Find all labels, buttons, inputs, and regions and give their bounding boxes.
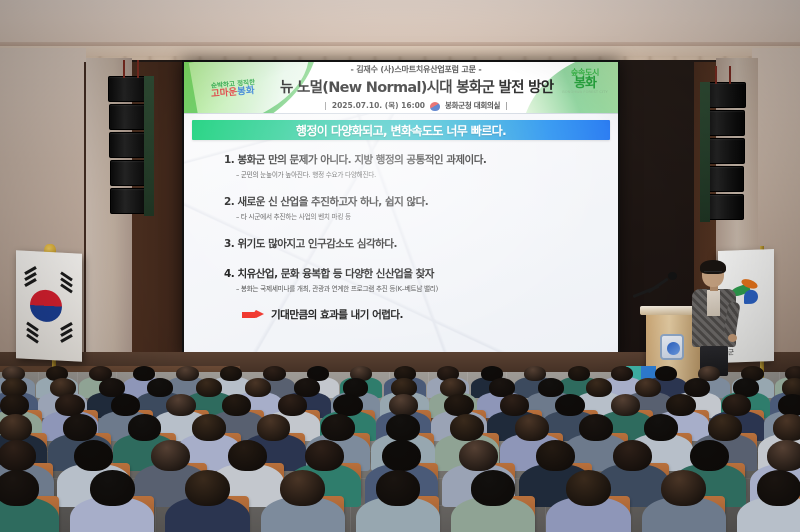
audience-member-head <box>450 414 484 441</box>
slide-title-block: - 김재수 (사)스마트치유산업포럼 고문 - 뉴 노멀(New Normal)… <box>280 62 552 114</box>
presenter-shirt <box>707 290 720 316</box>
audience-member-head <box>278 394 308 416</box>
bonghwa-county-emblem-icon <box>430 102 440 111</box>
slide-item-sub: – 군민의 눈높이가 높아진다. 행정 수요가 다양해진다. <box>236 169 600 179</box>
slide-item-main: 4. 치유산업, 문화 융복합 등 다양한 신산업을 찾자 <box>224 266 600 281</box>
presenter-glasses-icon <box>704 271 722 275</box>
audience-member-head <box>635 378 661 397</box>
speaker-hang-wire <box>715 66 717 84</box>
audience-member-head <box>586 378 612 397</box>
speaker-side-panel <box>700 82 710 222</box>
audience-member-head <box>778 394 800 416</box>
slide-conclusion-text: 기대만큼의 효과를 내기 어렵다. <box>271 307 403 322</box>
slide-item: 2. 새로운 신 산업을 추진하고자 하나, 쉽지 않다. – 타 시군에서 추… <box>224 194 600 221</box>
audience-member-head <box>611 394 641 416</box>
meta-venue: 봉화군청 대회의실 <box>445 100 500 111</box>
audience-member-head <box>245 378 271 397</box>
slide-headline-bar: 행정이 다양화되고, 변화속도도 너무 빠르다. <box>192 120 610 140</box>
audience-member-head <box>644 414 678 441</box>
slide-item-main: 1. 봉화군 만의 문제가 아니다. 지방 행정의 공통적인 과제이다. <box>224 152 600 167</box>
audience-member-head <box>382 440 421 471</box>
slide-item-main: 2. 새로운 신 산업을 추진하고자 하나, 쉽지 않다. <box>224 194 600 209</box>
forest-logo-line2: 봉화 <box>556 77 614 91</box>
slide-header: 순박하고 정직한 고마운봉화 - 김재수 (사)스마트치유산업포럼 고문 - 뉴… <box>184 62 618 114</box>
slide-body: 1. 봉화군 만의 문제가 아니다. 지방 행정의 공통적인 과제이다. – 군… <box>184 140 618 322</box>
slide-item: 4. 치유산업, 문화 융복합 등 다양한 신산업을 찾자 – 봉화는 국제세미… <box>224 266 600 293</box>
audience-member-head <box>690 440 729 471</box>
audience-member-head <box>536 440 575 471</box>
audience-member-head <box>386 414 420 441</box>
audience-member-head <box>333 394 363 416</box>
audience-member-head <box>538 378 564 397</box>
meta-date: 2025.07.10. (목) 16:00 <box>332 100 425 111</box>
audience-member-head <box>280 470 325 506</box>
audience-member-head <box>74 440 113 471</box>
audience-member-head <box>757 470 800 506</box>
audience-member-head <box>555 394 585 416</box>
speaker-cabinet <box>702 194 743 220</box>
audience-member-head <box>63 414 97 441</box>
audience-member-head <box>321 414 355 441</box>
audience-member-head <box>471 470 516 506</box>
slide-item: 3. 위기도 많아지고 인구감소도 심각하다. <box>224 236 600 251</box>
audience-member-head <box>0 470 39 506</box>
audience-member-head <box>722 394 752 416</box>
spacer <box>224 255 600 266</box>
audience-member-head <box>196 378 222 397</box>
audience-member-head <box>166 394 196 416</box>
audience-member-head <box>90 470 135 506</box>
audience-member-head <box>228 440 267 471</box>
audience-member-head <box>515 414 549 441</box>
audience-member-head <box>0 440 36 471</box>
audience-member-head <box>0 394 29 416</box>
audience-member-head <box>128 414 162 441</box>
audience-member-head <box>611 366 633 381</box>
audience-member-head <box>568 366 590 381</box>
audience-member-head <box>767 440 800 471</box>
audience-member-head <box>459 440 498 471</box>
audience-member-head <box>55 394 85 416</box>
audience-member-head <box>222 394 252 416</box>
audience-member-head <box>389 394 419 416</box>
presenter-at-podium <box>690 262 738 374</box>
slide-item-sub: – 타 시군에서 추진하는 사업의 벤치 마킹 등 <box>236 211 600 221</box>
conference-hall-scene: 순박하고 정직한 고마운봉화 - 김재수 (사)스마트치유산업포럼 고문 - 뉴… <box>0 0 800 532</box>
slide-item-sub: – 봉화는 국제세미나를 개최, 관광과 연계한 프로그램 추진 등(K–베트남… <box>236 283 600 293</box>
speaker-hang-wire <box>729 66 731 84</box>
audience-member-head <box>151 440 190 471</box>
slide-conclusion: 기대만큼의 효과를 내기 어렵다. <box>224 307 600 322</box>
line-array-speaker-right <box>700 82 746 222</box>
audience-member-head <box>666 394 696 416</box>
audience-member-head <box>257 414 291 441</box>
audience-member-head <box>263 366 285 381</box>
slogan-logo-line2a: 고마운 <box>211 87 238 100</box>
audience-member-head <box>708 414 742 441</box>
slogan-logo-line2b: 봉화 <box>237 85 255 97</box>
audience-member-head <box>176 366 198 381</box>
bonghwa-slogan-logo: 순박하고 정직한 고마운봉화 <box>190 70 276 108</box>
audience-member-head <box>305 440 344 471</box>
audience-member-head <box>500 394 530 416</box>
slide-headline-text: 행정이 다양화되고, 변화속도도 너무 빠르다. <box>296 122 506 139</box>
audience-member-head <box>684 378 710 397</box>
line-array-speaker-left <box>108 76 154 216</box>
red-right-arrow-icon <box>242 309 264 320</box>
audience-member-head <box>579 414 613 441</box>
microphone-head-icon <box>668 272 677 280</box>
forest-city-bonghwa-logo: 숲속도시 봉화 BONGHWA FOREST CITY <box>556 69 614 109</box>
korean-national-flag-taegukgi <box>16 250 82 361</box>
speaker-cabinet <box>110 188 151 214</box>
audience-member-head <box>192 414 226 441</box>
slide-title: 뉴 노멀(New Normal)시대 봉화군 발전 방안 <box>280 76 552 97</box>
forest-logo-line3: BONGHWA FOREST CITY <box>556 91 614 95</box>
speaker-side-panel <box>144 76 154 216</box>
slide-kicker: - 김재수 (사)스마트치유산업포럼 고문 - <box>280 64 552 75</box>
audience-member-head <box>185 470 230 506</box>
audience-member-head <box>220 366 242 381</box>
audience-member-head <box>655 366 677 381</box>
taeguk-symbol <box>30 289 62 323</box>
audience-member-head <box>444 394 474 416</box>
speaker-hang-wire <box>137 60 139 78</box>
audience-member-head <box>111 394 141 416</box>
audience-member-head <box>147 378 173 397</box>
audience-member-head <box>376 470 421 506</box>
presentation-slide: 순박하고 정직한 고마운봉화 - 김재수 (사)스마트치유산업포럼 고문 - 뉴… <box>184 62 618 355</box>
slide-item: 1. 봉화군 만의 문제가 아니다. 지방 행정의 공통적인 과제이다. – 군… <box>224 152 600 179</box>
presenter-hand <box>728 334 737 342</box>
meta-bar-right: | <box>505 101 508 110</box>
slide-item-main: 3. 위기도 많아지고 인구감소도 심각하다. <box>224 236 600 251</box>
audience-member-head <box>661 470 706 506</box>
audience-member-head <box>613 440 652 471</box>
speaker-hang-wire <box>123 60 125 78</box>
spacer <box>224 225 600 236</box>
audience-member-head <box>773 414 800 441</box>
audience-member-head <box>566 470 611 506</box>
podium-seal-icon <box>660 334 684 360</box>
spacer <box>224 183 600 194</box>
meta-bar-left: | <box>324 101 327 110</box>
ceiling <box>0 0 800 46</box>
slide-meta: | 2025.07.10. (목) 16:00 봉화군청 대회의실 | <box>280 100 552 111</box>
audience-member-head <box>0 414 32 441</box>
